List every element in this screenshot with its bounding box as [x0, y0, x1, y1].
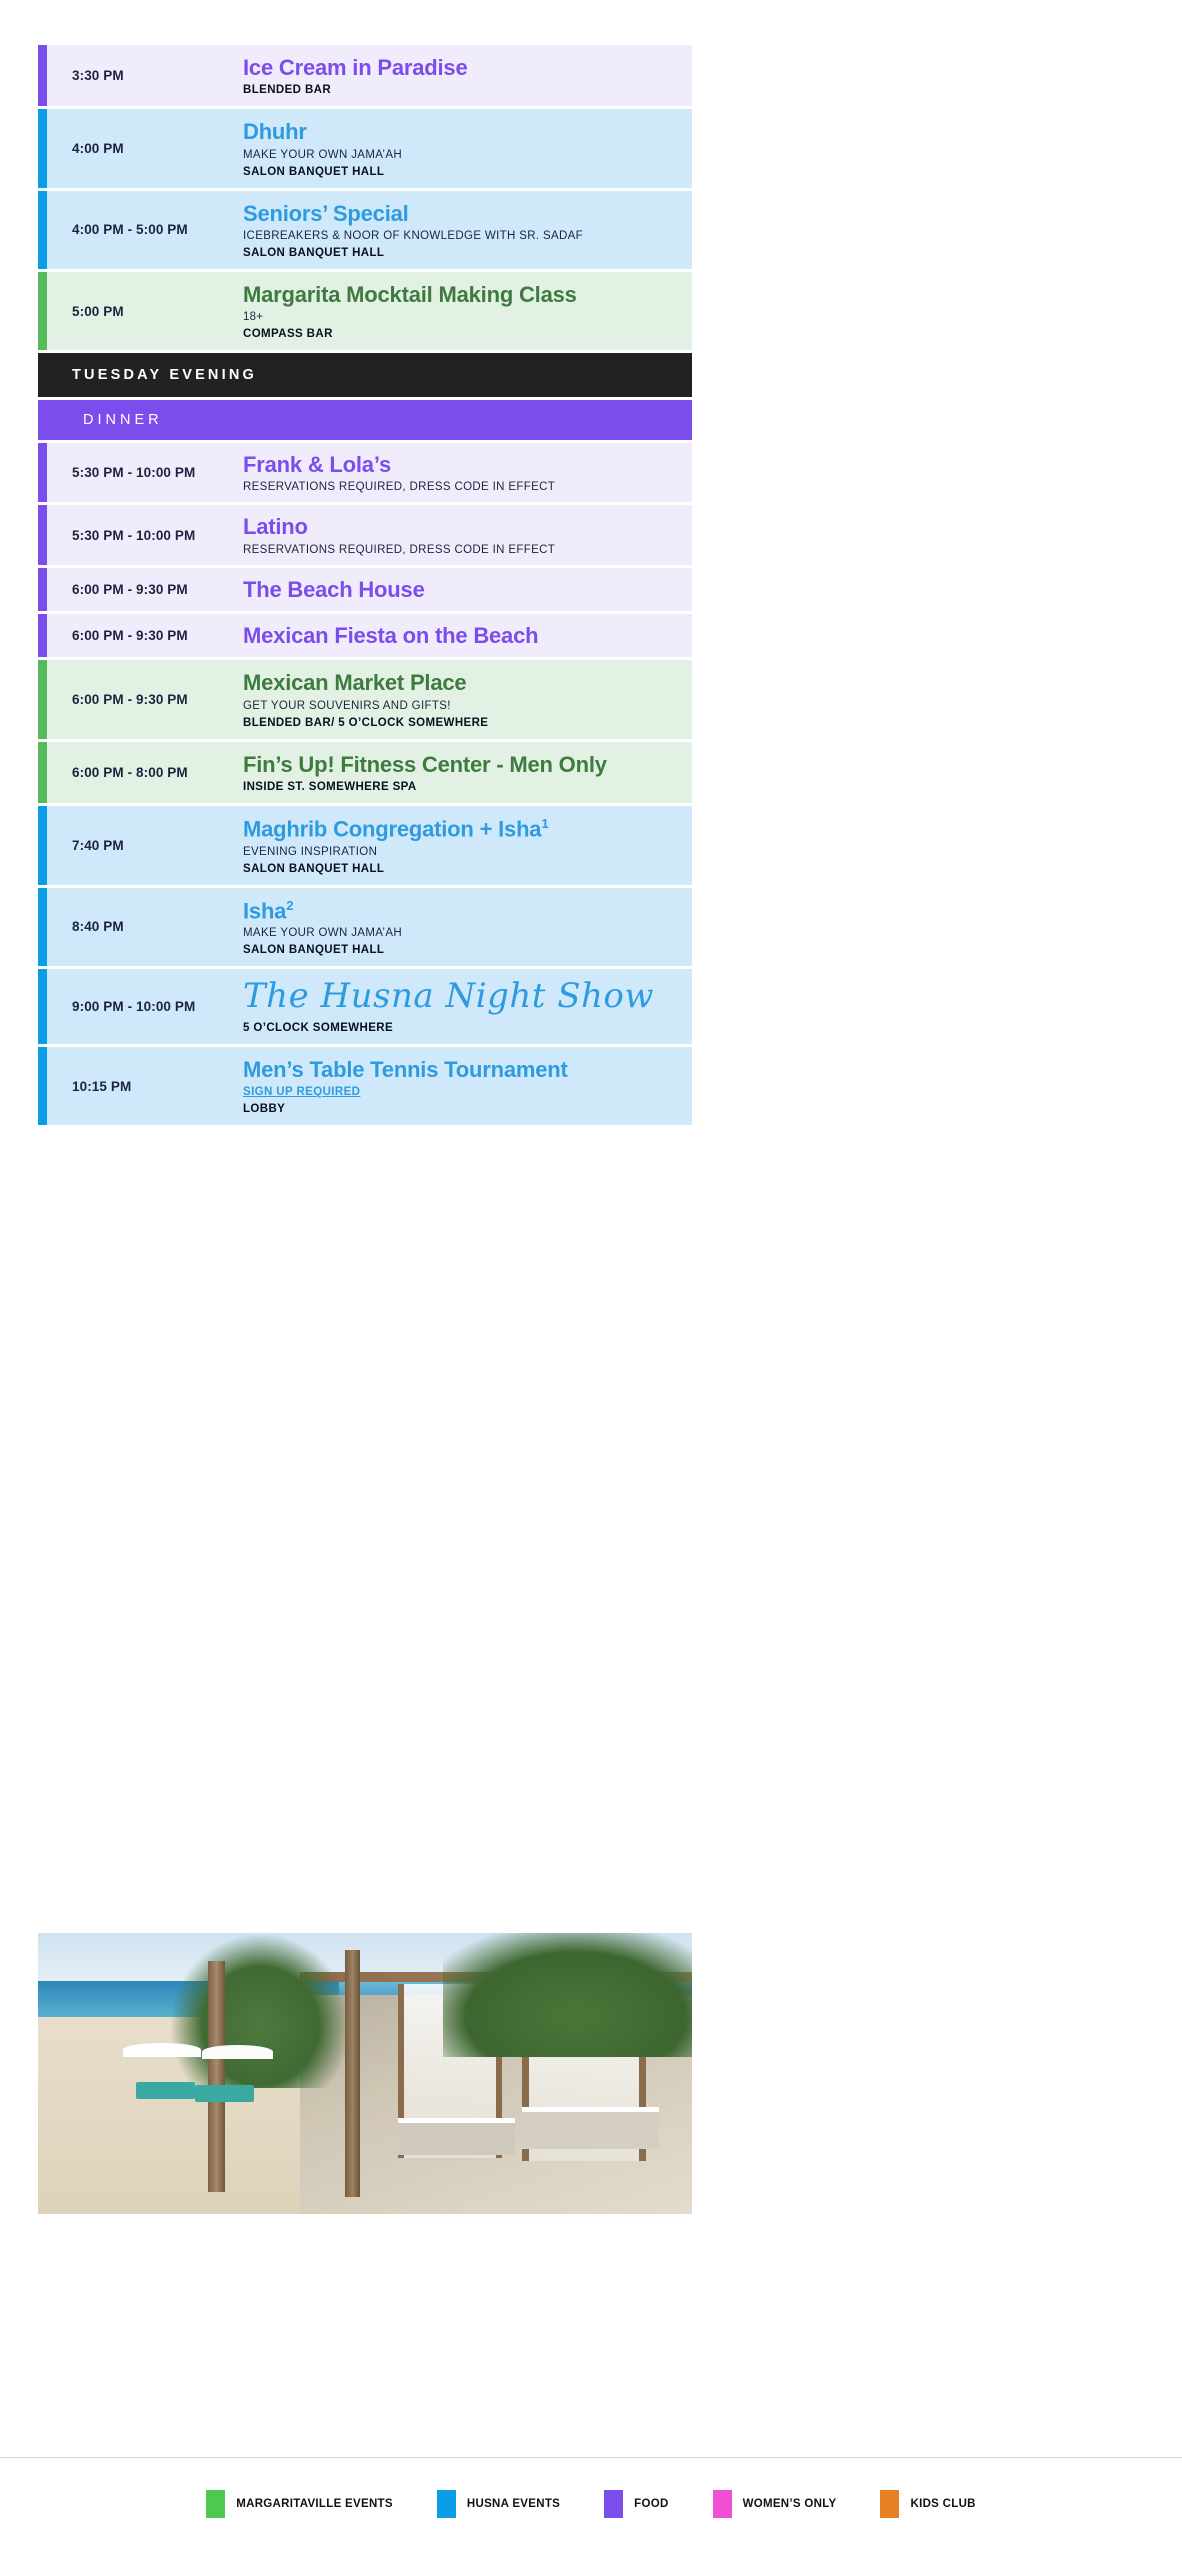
- section-header: TUESDAY EVENING: [38, 353, 692, 397]
- legend-label: MARGARITAVILLE EVENTS: [236, 2498, 393, 2510]
- legend-color-swatch: [880, 2490, 899, 2518]
- event-title: The Husna Night Show: [243, 979, 680, 1015]
- schedule-row[interactable]: 9:00 PM - 10:00 PMThe Husna Night Show5 …: [38, 969, 692, 1044]
- category-color-bar: [38, 969, 47, 1044]
- row-body: 5:30 PM - 10:00 PMLatinoRESERVATIONS REQ…: [47, 505, 692, 564]
- schedule-row[interactable]: 6:00 PM - 9:30 PMMexican Market PlaceGET…: [38, 660, 692, 738]
- schedule-page: 3:30 PMIce Cream in ParadiseBLENDED BAR4…: [0, 0, 1182, 2560]
- beach-photo: [38, 1933, 692, 2214]
- beach-chair-1: [136, 2082, 195, 2099]
- event-venue: BLENDED BAR/ 5 O’CLOCK SOMEWHERE: [243, 717, 680, 729]
- category-color-bar: [38, 568, 47, 611]
- event-subtitle: RESERVATIONS REQUIRED, DRESS CODE IN EFF…: [243, 544, 680, 556]
- event-venue: SALON BANQUET HALL: [243, 166, 680, 178]
- event-info: Mexican Fiesta on the Beach: [243, 614, 692, 657]
- event-subtitle: GET YOUR SOUVENIRS AND GIFTS!: [243, 700, 680, 712]
- event-info: Men’s Table Tennis TournamentSIGN UP REQ…: [243, 1047, 692, 1125]
- event-title: Seniors’ Special: [243, 201, 680, 226]
- schedule-row[interactable]: 6:00 PM - 9:30 PMThe Beach House: [38, 568, 692, 611]
- event-info: Isha2MAKE YOUR OWN JAMA’AHSALON BANQUET …: [243, 888, 692, 967]
- event-title-text: Maghrib Congregation + Isha: [243, 816, 541, 841]
- schedule-row[interactable]: 5:30 PM - 10:00 PMFrank & Lola’sRESERVAT…: [38, 443, 692, 502]
- palm-trunk-2: [345, 1950, 359, 2197]
- event-title: Fin’s Up! Fitness Center - Men Only: [243, 752, 680, 777]
- event-info: The Husna Night Show5 O’CLOCK SOMEWHERE: [243, 969, 692, 1044]
- event-subtitle: ICEBREAKERS & NOOR OF KNOWLEDGE WITH SR.…: [243, 230, 680, 242]
- row-body: 5:00 PMMargarita Mocktail Making Class18…: [47, 272, 692, 350]
- event-info: The Beach House: [243, 568, 692, 611]
- row-body: 3:30 PMIce Cream in ParadiseBLENDED BAR: [47, 45, 692, 106]
- legend-color-swatch: [713, 2490, 732, 2518]
- category-color-bar: [38, 614, 47, 657]
- event-info: DhuhrMAKE YOUR OWN JAMA’AHSALON BANQUET …: [243, 109, 692, 187]
- event-time: 6:00 PM - 9:30 PM: [47, 582, 243, 597]
- category-color-bar: [38, 191, 47, 269]
- event-title: Ice Cream in Paradise: [243, 55, 680, 80]
- event-info: Mexican Market PlaceGET YOUR SOUVENIRS A…: [243, 660, 692, 738]
- row-body: 6:00 PM - 9:30 PMThe Beach House: [47, 568, 692, 611]
- event-info: Ice Cream in ParadiseBLENDED BAR: [243, 45, 692, 106]
- row-body: 6:00 PM - 8:00 PMFin’s Up! Fitness Cente…: [47, 742, 692, 803]
- event-time: 4:00 PM - 5:00 PM: [47, 222, 243, 237]
- event-title-text: Isha: [243, 898, 286, 923]
- event-time: 5:30 PM - 10:00 PM: [47, 465, 243, 480]
- category-color-bar: [38, 742, 47, 803]
- event-title: Maghrib Congregation + Isha1: [243, 816, 680, 842]
- legend-label: FOOD: [634, 2498, 668, 2510]
- event-venue: SALON BANQUET HALL: [243, 863, 680, 875]
- event-title: The Beach House: [243, 577, 680, 602]
- event-info: Frank & Lola’sRESERVATIONS REQUIRED, DRE…: [243, 443, 692, 502]
- legend-item: MARGARITAVILLE EVENTS: [206, 2490, 393, 2518]
- event-title: Margarita Mocktail Making Class: [243, 282, 680, 307]
- legend-item: WOMEN’S ONLY: [713, 2490, 837, 2518]
- category-color-bar: [38, 1047, 47, 1125]
- palm-trunk-1: [208, 1961, 225, 2191]
- row-body: 4:00 PM - 5:00 PMSeniors’ SpecialICEBREA…: [47, 191, 692, 269]
- schedule-row[interactable]: 6:00 PM - 9:30 PMMexican Fiesta on the B…: [38, 614, 692, 657]
- legend-color-swatch: [437, 2490, 456, 2518]
- event-time: 6:00 PM - 9:30 PM: [47, 692, 243, 707]
- legend-label: WOMEN’S ONLY: [743, 2498, 837, 2510]
- event-venue: 5 O’CLOCK SOMEWHERE: [243, 1022, 680, 1034]
- event-subtitle: MAKE YOUR OWN JAMA’AH: [243, 927, 680, 939]
- event-subtitle: EVENING INSPIRATION: [243, 846, 680, 858]
- schedule-row[interactable]: 8:40 PMIsha2MAKE YOUR OWN JAMA’AHSALON B…: [38, 888, 692, 967]
- schedule-row[interactable]: 7:40 PMMaghrib Congregation + Isha1EVENI…: [38, 806, 692, 885]
- category-color-bar: [38, 272, 47, 350]
- category-color-bar: [38, 888, 47, 967]
- category-color-bar: [38, 806, 47, 885]
- beach-with-cabanas-photo: [38, 1933, 692, 2214]
- row-body: 4:00 PMDhuhrMAKE YOUR OWN JAMA’AHSALON B…: [47, 109, 692, 187]
- event-title: Dhuhr: [243, 119, 680, 144]
- event-title: Latino: [243, 514, 680, 539]
- event-venue: SALON BANQUET HALL: [243, 944, 680, 956]
- event-time: 7:40 PM: [47, 838, 243, 853]
- legend-color-swatch: [604, 2490, 623, 2518]
- schedule-list: 3:30 PMIce Cream in ParadiseBLENDED BAR4…: [38, 45, 692, 1128]
- category-color-bar: [38, 660, 47, 738]
- legend-label: KIDS CLUB: [910, 2498, 975, 2510]
- row-body: 5:30 PM - 10:00 PMFrank & Lola’sRESERVAT…: [47, 443, 692, 502]
- event-time: 8:40 PM: [47, 919, 243, 934]
- category-color-bar: [38, 505, 47, 564]
- row-body: 7:40 PMMaghrib Congregation + Isha1EVENI…: [47, 806, 692, 885]
- event-subtitle: MAKE YOUR OWN JAMA’AH: [243, 149, 680, 161]
- cabana-base-2: [522, 2107, 659, 2149]
- legend-label: HUSNA EVENTS: [467, 2498, 560, 2510]
- event-info: LatinoRESERVATIONS REQUIRED, DRESS CODE …: [243, 505, 692, 564]
- event-title: Mexican Fiesta on the Beach: [243, 623, 680, 648]
- event-title: Men’s Table Tennis Tournament: [243, 1057, 680, 1082]
- schedule-row[interactable]: 4:00 PM - 5:00 PMSeniors’ SpecialICEBREA…: [38, 191, 692, 269]
- category-color-bar: [38, 45, 47, 106]
- meal-header: DINNER: [38, 400, 692, 440]
- event-venue: BLENDED BAR: [243, 84, 680, 96]
- cabana-base-1: [398, 2118, 516, 2155]
- event-subtitle: 18+: [243, 311, 680, 323]
- event-title: Isha2: [243, 898, 680, 924]
- row-body: 6:00 PM - 9:30 PMMexican Fiesta on the B…: [47, 614, 692, 657]
- event-title-footnote: 1: [541, 816, 548, 831]
- legend-divider: [0, 2457, 1182, 2458]
- event-time: 6:00 PM - 8:00 PM: [47, 765, 243, 780]
- event-time: 5:00 PM: [47, 304, 243, 319]
- event-time: 10:15 PM: [47, 1079, 243, 1094]
- legend-item: FOOD: [604, 2490, 668, 2518]
- schedule-row[interactable]: 6:00 PM - 8:00 PMFin’s Up! Fitness Cente…: [38, 742, 692, 803]
- row-body: 6:00 PM - 9:30 PMMexican Market PlaceGET…: [47, 660, 692, 738]
- event-venue: INSIDE ST. SOMEWHERE SPA: [243, 781, 680, 793]
- event-time: 6:00 PM - 9:30 PM: [47, 628, 243, 643]
- event-time: 5:30 PM - 10:00 PM: [47, 528, 243, 543]
- event-title-footnote: 2: [286, 898, 293, 913]
- event-title: Frank & Lola’s: [243, 452, 680, 477]
- event-venue: SALON BANQUET HALL: [243, 247, 680, 259]
- event-info: Seniors’ SpecialICEBREAKERS & NOOR OF KN…: [243, 191, 692, 269]
- legend-item: HUSNA EVENTS: [437, 2490, 560, 2518]
- event-subtitle: RESERVATIONS REQUIRED, DRESS CODE IN EFF…: [243, 481, 680, 493]
- row-body: 8:40 PMIsha2MAKE YOUR OWN JAMA’AHSALON B…: [47, 888, 692, 967]
- palm-foliage-right: [443, 1933, 692, 2057]
- event-info: Fin’s Up! Fitness Center - Men OnlyINSID…: [243, 742, 692, 803]
- sign-up-link[interactable]: SIGN UP REQUIRED: [243, 1086, 680, 1098]
- schedule-row[interactable]: 3:30 PMIce Cream in ParadiseBLENDED BAR: [38, 45, 692, 106]
- schedule-row[interactable]: 10:15 PMMen’s Table Tennis TournamentSIG…: [38, 1047, 692, 1125]
- legend-item: KIDS CLUB: [880, 2490, 975, 2518]
- event-venue: LOBBY: [243, 1103, 680, 1115]
- schedule-row[interactable]: 5:00 PMMargarita Mocktail Making Class18…: [38, 272, 692, 350]
- category-legend: MARGARITAVILLE EVENTSHUSNA EVENTSFOODWOM…: [0, 2490, 1182, 2518]
- beach-umbrella-2: [202, 2045, 274, 2059]
- beach-chair-2: [195, 2085, 254, 2102]
- event-time: 3:30 PM: [47, 68, 243, 83]
- category-color-bar: [38, 443, 47, 502]
- event-venue: COMPASS BAR: [243, 328, 680, 340]
- event-title: Mexican Market Place: [243, 670, 680, 695]
- event-time: 9:00 PM - 10:00 PM: [47, 999, 243, 1014]
- row-body: 10:15 PMMen’s Table Tennis TournamentSIG…: [47, 1047, 692, 1125]
- beach-umbrella-1: [123, 2043, 201, 2057]
- palm-foliage-left: [169, 1933, 352, 2088]
- legend-color-swatch: [206, 2490, 225, 2518]
- event-info: Margarita Mocktail Making Class18+COMPAS…: [243, 272, 692, 350]
- schedule-row[interactable]: 5:30 PM - 10:00 PMLatinoRESERVATIONS REQ…: [38, 505, 692, 564]
- schedule-row[interactable]: 4:00 PMDhuhrMAKE YOUR OWN JAMA’AHSALON B…: [38, 109, 692, 187]
- row-body: 9:00 PM - 10:00 PMThe Husna Night Show5 …: [47, 969, 692, 1044]
- event-time: 4:00 PM: [47, 141, 243, 156]
- event-info: Maghrib Congregation + Isha1EVENING INSP…: [243, 806, 692, 885]
- category-color-bar: [38, 109, 47, 187]
